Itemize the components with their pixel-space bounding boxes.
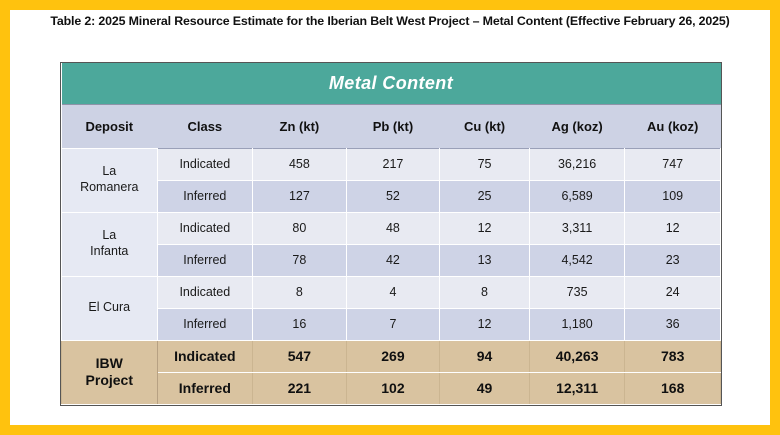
class-cell: Indicated <box>157 148 253 180</box>
table-body: La Romanera Indicated 458 217 75 36,216 … <box>62 148 721 404</box>
column-header-ag: Ag (koz) <box>529 104 625 148</box>
zn-cell: 8 <box>253 276 347 308</box>
zn-cell: 547 <box>253 340 347 372</box>
pb-cell: 42 <box>346 244 440 276</box>
pb-cell: 48 <box>346 212 440 244</box>
ag-cell: 40,263 <box>529 340 625 372</box>
deposit-line-1: La <box>102 164 116 178</box>
page-title: Table 2: 2025 Mineral Resource Estimate … <box>45 12 735 31</box>
au-cell: 747 <box>625 148 721 180</box>
class-cell: Indicated <box>157 212 253 244</box>
class-cell: Indicated <box>157 340 253 372</box>
deposit-line-2: Project <box>86 372 133 388</box>
deposit-line-1: El Cura <box>88 300 130 314</box>
au-cell: 36 <box>625 308 721 340</box>
class-cell: Inferred <box>157 244 253 276</box>
table-banner-title: Metal Content <box>62 63 721 104</box>
class-cell: Inferred <box>157 180 253 212</box>
column-header-deposit: Deposit <box>62 104 158 148</box>
au-cell: 109 <box>625 180 721 212</box>
column-header-row: Deposit Class Zn (kt) Pb (kt) Cu (kt) Ag… <box>62 104 721 148</box>
ag-cell: 735 <box>529 276 625 308</box>
ag-cell: 36,216 <box>529 148 625 180</box>
cu-cell: 49 <box>440 372 530 404</box>
table-row-total: Inferred 221 102 49 12,311 168 <box>62 372 721 404</box>
zn-cell: 80 <box>253 212 347 244</box>
deposit-label-la-infanta: La Infanta <box>62 212 158 276</box>
pb-cell: 52 <box>346 180 440 212</box>
table-row: Inferred 78 42 13 4,542 23 <box>62 244 721 276</box>
table-row: La Infanta Indicated 80 48 12 3,311 12 <box>62 212 721 244</box>
deposit-line-2: Infanta <box>90 244 128 258</box>
class-cell: Inferred <box>157 372 253 404</box>
table-banner-row: Metal Content <box>62 63 721 104</box>
au-cell: 783 <box>625 340 721 372</box>
ag-cell: 4,542 <box>529 244 625 276</box>
cu-cell: 25 <box>440 180 530 212</box>
deposit-label-la-romanera: La Romanera <box>62 148 158 212</box>
deposit-label-ibw-project: IBW Project <box>62 340 158 404</box>
deposit-label-el-cura: El Cura <box>62 276 158 340</box>
cu-cell: 94 <box>440 340 530 372</box>
zn-cell: 458 <box>253 148 347 180</box>
slide-content: Table 2: 2025 Mineral Resource Estimate … <box>10 10 770 425</box>
table-row: La Romanera Indicated 458 217 75 36,216 … <box>62 148 721 180</box>
cu-cell: 12 <box>440 308 530 340</box>
column-header-au: Au (koz) <box>625 104 721 148</box>
zn-cell: 78 <box>253 244 347 276</box>
ag-cell: 6,589 <box>529 180 625 212</box>
zn-cell: 16 <box>253 308 347 340</box>
table-row: El Cura Indicated 8 4 8 735 24 <box>62 276 721 308</box>
au-cell: 23 <box>625 244 721 276</box>
cu-cell: 13 <box>440 244 530 276</box>
column-header-zn: Zn (kt) <box>253 104 347 148</box>
column-header-class: Class <box>157 104 253 148</box>
table-row-total: IBW Project Indicated 547 269 94 40,263 … <box>62 340 721 372</box>
pb-cell: 269 <box>346 340 440 372</box>
table-row: Inferred 127 52 25 6,589 109 <box>62 180 721 212</box>
ag-cell: 3,311 <box>529 212 625 244</box>
metal-content-table: Metal Content Deposit Class Zn (kt) Pb (… <box>61 63 721 405</box>
deposit-line-2: Romanera <box>80 180 138 194</box>
cu-cell: 8 <box>440 276 530 308</box>
cu-cell: 75 <box>440 148 530 180</box>
column-header-pb: Pb (kt) <box>346 104 440 148</box>
au-cell: 168 <box>625 372 721 404</box>
ag-cell: 1,180 <box>529 308 625 340</box>
cu-cell: 12 <box>440 212 530 244</box>
au-cell: 12 <box>625 212 721 244</box>
class-cell: Inferred <box>157 308 253 340</box>
pb-cell: 102 <box>346 372 440 404</box>
deposit-line-1: IBW <box>96 355 123 371</box>
zn-cell: 221 <box>253 372 347 404</box>
column-header-cu: Cu (kt) <box>440 104 530 148</box>
mineral-resource-table: Metal Content Deposit Class Zn (kt) Pb (… <box>60 62 722 406</box>
pb-cell: 217 <box>346 148 440 180</box>
class-cell: Indicated <box>157 276 253 308</box>
deposit-line-1: La <box>102 228 116 242</box>
ag-cell: 12,311 <box>529 372 625 404</box>
slide-frame: Table 2: 2025 Mineral Resource Estimate … <box>0 0 780 435</box>
au-cell: 24 <box>625 276 721 308</box>
zn-cell: 127 <box>253 180 347 212</box>
table-row: Inferred 16 7 12 1,180 36 <box>62 308 721 340</box>
pb-cell: 4 <box>346 276 440 308</box>
pb-cell: 7 <box>346 308 440 340</box>
